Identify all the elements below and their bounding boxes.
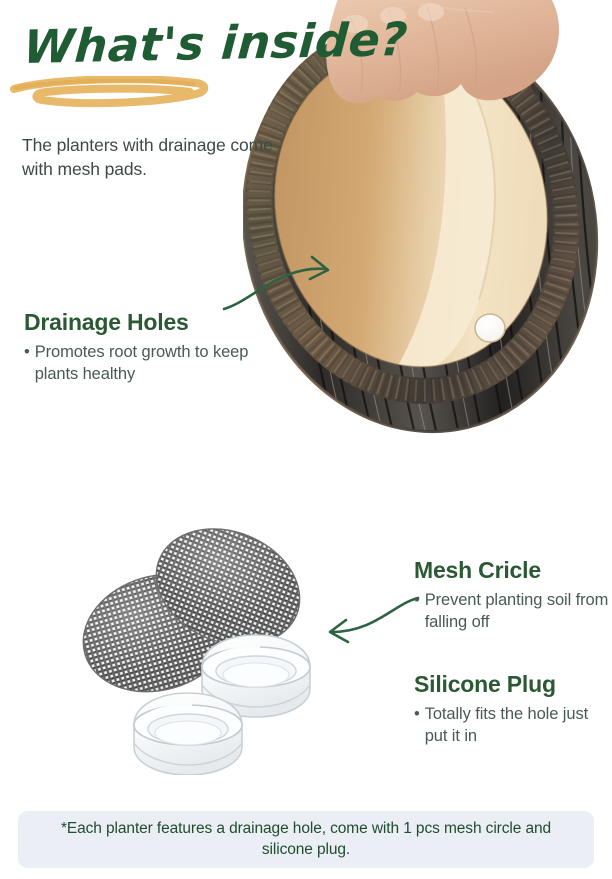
feature-mesh-circle: Mesh Cricle • Prevent planting soil from… [414, 558, 610, 634]
drainage-hole [475, 314, 505, 342]
feature-heading: Drainage Holes [24, 310, 274, 335]
footer-note-text: *Each planter features a drainage hole, … [36, 819, 576, 861]
feature-bullet: • Prevent planting soil from falling off [414, 589, 610, 633]
feature-bullet: • Totally fits the hole just put it in [414, 703, 610, 747]
feature-heading: Mesh Cricle [414, 558, 610, 583]
title-block: What's inside? [22, 24, 352, 120]
parts-photo [80, 515, 370, 775]
silicone-plug [134, 693, 242, 775]
page-title: What's inside? [22, 17, 356, 70]
bullet-marker: • [414, 589, 420, 633]
brush-underline-icon [10, 76, 220, 110]
feature-bullet: • Promotes root growth to keep plants he… [24, 341, 274, 385]
infographic-page: What's inside? The planters with drainag… [0, 0, 612, 879]
bullet-text: Promotes root growth to keep plants heal… [35, 341, 274, 385]
bullet-marker: • [414, 703, 420, 747]
bullet-marker: • [24, 341, 30, 385]
feature-drainage-holes: Drainage Holes • Promotes root growth to… [24, 310, 274, 386]
bullet-text: Totally fits the hole just put it in [425, 703, 610, 747]
feature-silicone-plug: Silicone Plug • Totally fits the hole ju… [414, 672, 610, 748]
subtitle: The planters with drainage come with mes… [22, 133, 292, 181]
feature-heading: Silicone Plug [414, 672, 610, 697]
bullet-text: Prevent planting soil from falling off [425, 589, 610, 633]
footer-note: *Each planter features a drainage hole, … [18, 811, 594, 868]
